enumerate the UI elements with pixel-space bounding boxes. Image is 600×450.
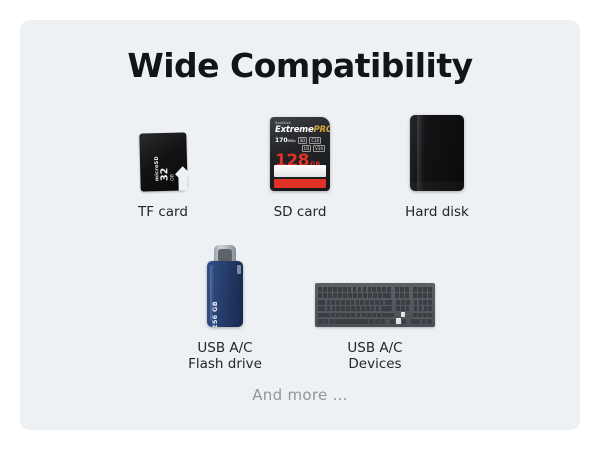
item-sd-card: SanDisk ExtremePRO 170MB/s SD C10 U3 V30: [232, 105, 369, 220]
usb-flash-drive-art: 256 GB: [207, 235, 243, 327]
hard-disk-icon: [410, 115, 464, 191]
sd-card-model: ExtremePRO: [275, 125, 325, 135]
hard-disk-caption: Hard disk: [405, 204, 469, 220]
sd-card-caption: SD card: [274, 204, 327, 220]
keyboard-row: [318, 292, 432, 298]
keyboard-row: [318, 312, 432, 318]
usb-drive-body: 256 GB: [207, 261, 243, 327]
sd-v30-badge: V30: [313, 145, 325, 152]
item-usb-flash-drive: 256 GB USB A/C Flash drive: [150, 235, 300, 372]
and-more-text: And more ...: [20, 386, 580, 404]
sd-card-red-bar: [274, 179, 326, 188]
keyboard-row: [318, 305, 432, 311]
tf-card-art: microSD 32 GB: [140, 105, 187, 191]
usb-drive-chip: [237, 265, 241, 274]
sd-logo-badge: SD: [298, 137, 308, 144]
usb-devices-art: [315, 235, 435, 327]
item-hard-disk: Hard disk: [369, 105, 506, 220]
usb-flash-drive-caption: USB A/C Flash drive: [188, 340, 262, 372]
usb-c-flash-drive-icon: 256 GB: [207, 245, 243, 327]
compatibility-row-2: 256 GB USB A/C Flash drive: [20, 235, 580, 372]
tf-card-caption: TF card: [138, 204, 188, 220]
sd-card-model-accent: PRO: [314, 125, 330, 135]
sd-card-art: SanDisk ExtremePRO 170MB/s SD C10 U3 V30: [270, 105, 330, 191]
microsd-card-icon: microSD 32 GB: [139, 132, 188, 191]
sd-class-badge: C10: [309, 137, 321, 144]
page-title: Wide Compatibility: [20, 46, 580, 85]
sd-card-specs: 170MB/s SD C10: [275, 137, 325, 144]
sd-card-speed-unit: MB/s: [288, 139, 296, 143]
hard-disk-art: [410, 105, 464, 191]
compatibility-row-1: microSD 32 GB TF card SanDisk ExtremePRO: [20, 105, 580, 220]
keyboard-row: [318, 286, 432, 292]
sd-card-icon: SanDisk ExtremePRO 170MB/s SD C10 U3 V30: [270, 117, 330, 191]
keyboard-row: [318, 299, 432, 305]
hard-disk-base: [410, 182, 464, 191]
sd-card-write-label: [274, 165, 326, 177]
item-tf-card: microSD 32 GB TF card: [95, 105, 232, 220]
usb-devices-caption: USB A/C Devices: [347, 340, 402, 372]
compatibility-panel: Wide Compatibility microSD 32 GB TF card: [20, 20, 580, 430]
sd-card-speed: 170MB/s: [275, 137, 296, 144]
sd-card-model-main: Extreme: [275, 125, 314, 135]
tf-card-capacity: 32: [159, 168, 169, 181]
tf-card-unit: GB: [169, 174, 174, 181]
hard-disk-gloss: [417, 115, 424, 191]
usb-drive-capacity: 256 GB: [211, 295, 219, 327]
keyboard-icon: [315, 283, 435, 327]
item-usb-devices: USB A/C Devices: [300, 235, 450, 372]
sd-card-speed-value: 170: [275, 137, 288, 144]
keyboard-row: [318, 318, 432, 324]
